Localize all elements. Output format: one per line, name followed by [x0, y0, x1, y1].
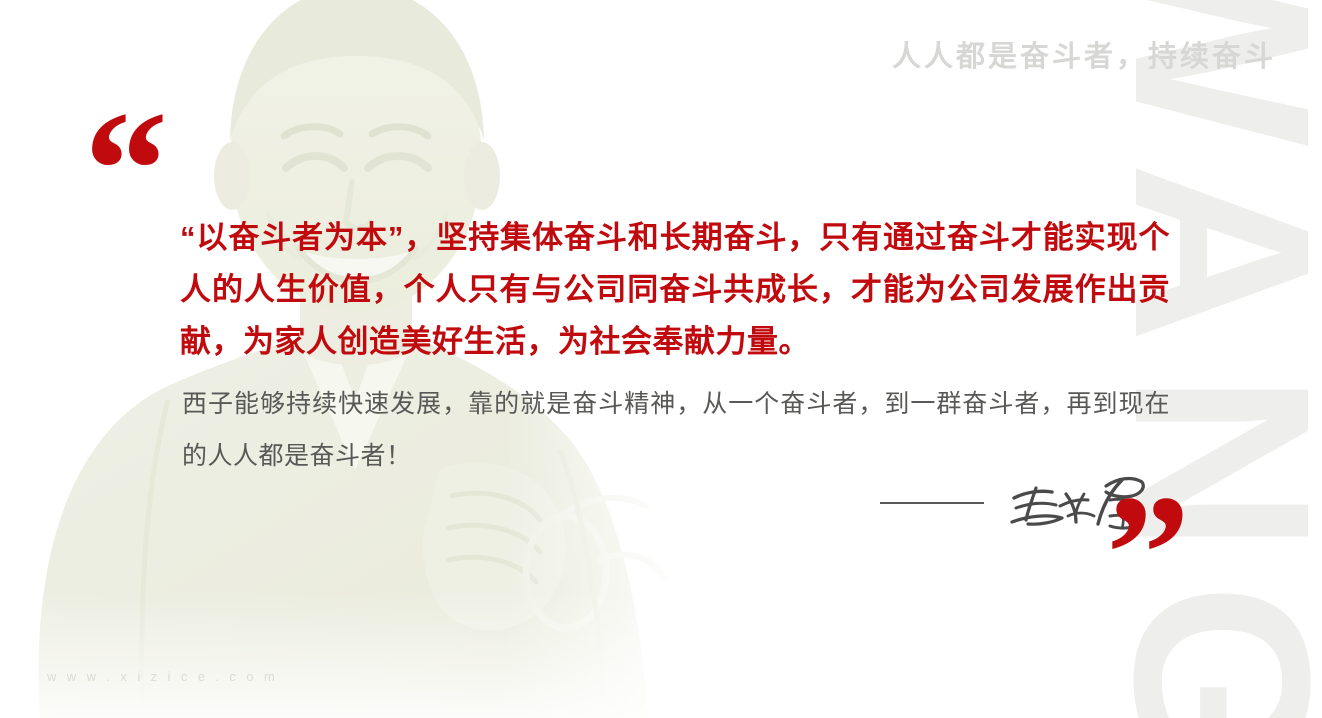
slide-canvas: WANG 人人都是奋斗者，持续奋斗 “ “以奋斗者为本”，坚持集体奋斗和长期奋斗…: [0, 0, 1322, 718]
quote-close-icon: ”: [1106, 470, 1190, 638]
quote-open-icon: “: [84, 86, 168, 254]
page-title: 人人都是奋斗者，持续奋斗: [892, 40, 1276, 75]
footer-url: w w w . x i z i c e . c o m: [47, 669, 278, 684]
attribution-dash: [880, 502, 984, 504]
quote-gray-text: 西子能够持续快速发展，靠的就是奋斗精神，从一个奋斗者，到一群奋斗者，再到现在的人…: [182, 378, 1170, 482]
quote-red-text: “以奋斗者为本”，坚持集体奋斗和长期奋斗，只有通过奋斗才能实现个人的人生价值，个…: [180, 212, 1170, 368]
